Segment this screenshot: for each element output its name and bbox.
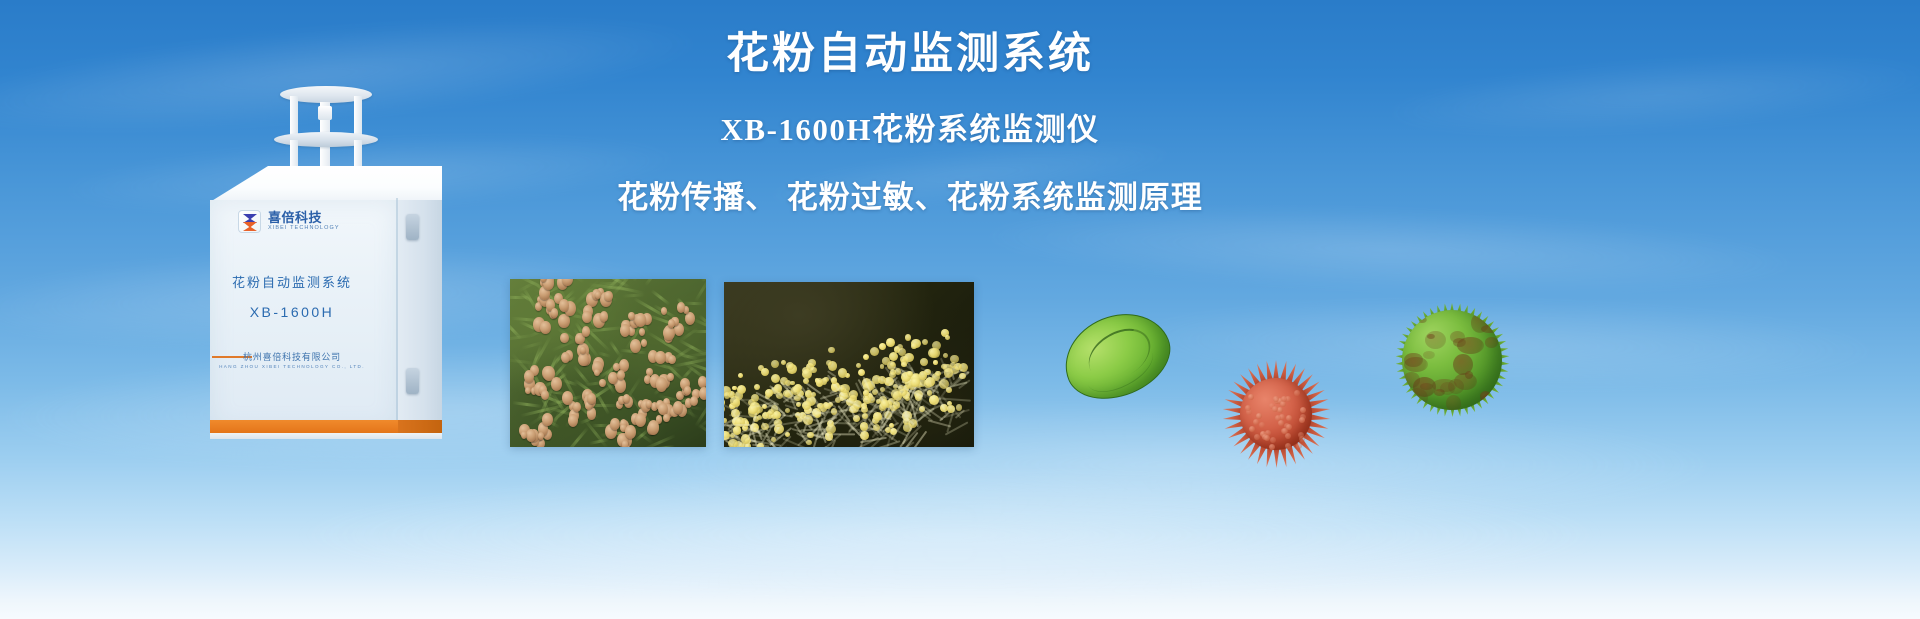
banner-title: 花粉自动监测系统 [560, 28, 1260, 82]
cabinet-base-strip-side [398, 420, 442, 433]
pollen-analyzer-device: 喜倍科技 XIBEI TECHNOLOGY 花粉自动监测系统 XB-1600H … [198, 80, 458, 430]
door-handle-icon[interactable] [406, 368, 419, 394]
cabinet-side-panel [398, 200, 442, 430]
cabinet-edge [396, 198, 398, 432]
brand-name-cn: 喜倍科技 [268, 211, 340, 225]
banner-subtitle: XB-1600H花粉系统监测仪 [560, 110, 1260, 150]
inlet-nub [318, 106, 332, 120]
device-company-en: HANG ZHOU XIBEI TECHNOLOGY CO., LTD. [198, 364, 386, 369]
brand-name-en: XIBEI TECHNOLOGY [268, 226, 340, 232]
cabinet-top [210, 166, 442, 202]
cabinet-base-strip [210, 420, 398, 433]
door-handle-icon[interactable] [406, 214, 419, 240]
green-mottled-spiky-pollen-grain [1402, 310, 1502, 410]
device-panel-title: 花粉自动监测系统 [198, 272, 386, 291]
device-model-label: XB-1600H [198, 304, 386, 320]
banner-tagline: 花粉传播、 花粉过敏、花粉系统监测原理 [560, 178, 1260, 218]
cypress-pollen-cones-photo [510, 279, 706, 447]
red-spiky-pollen-grain [1222, 360, 1330, 468]
catkin-anthers-photo [724, 282, 974, 447]
grain-body [1402, 310, 1502, 410]
cabinet-foot [210, 433, 442, 439]
device-brand-lockup: 喜倍科技 XIBEI TECHNOLOGY [238, 210, 340, 233]
headline-block: 花粉自动监测系统 XB-1600H花粉系统监测仪 花粉传播、 花粉过敏、花粉系统… [560, 28, 1260, 218]
pollen-monitoring-banner: 花粉自动监测系统 XB-1600H花粉系统监测仪 花粉传播、 花粉过敏、花粉系统… [0, 0, 1920, 619]
grain-body [1240, 378, 1312, 450]
device-company-cn: 杭州喜倍科技有限公司 [198, 350, 386, 363]
xibei-logo-icon [238, 210, 261, 233]
